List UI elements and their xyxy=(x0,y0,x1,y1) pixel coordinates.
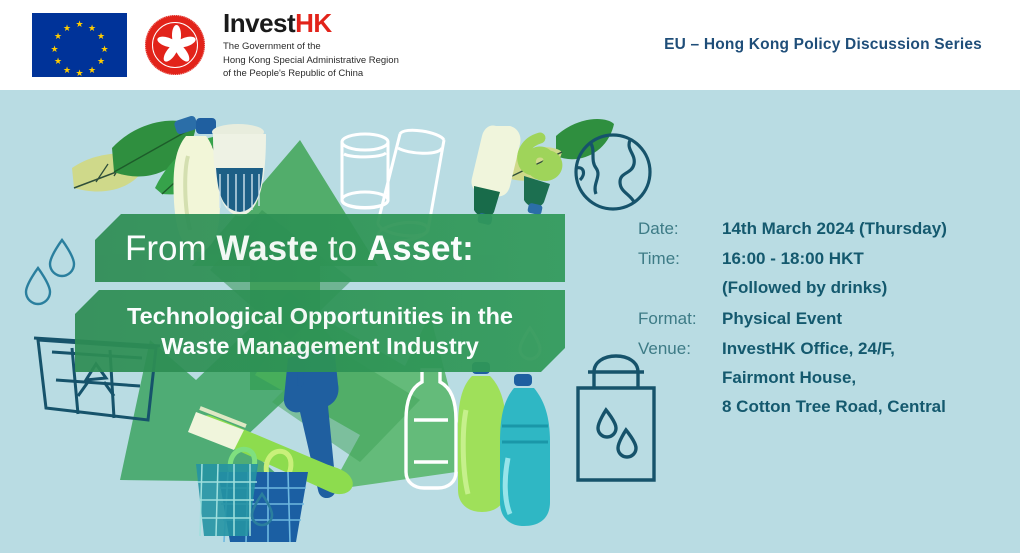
detail-row-date: Date: 14th March 2024 (Thursday) xyxy=(638,214,998,243)
detail-row-venue: Venue: InvestHK Office, 24/F, Fairmont H… xyxy=(638,334,998,422)
green-bottle-icon xyxy=(458,362,506,512)
detail-label-format: Format: xyxy=(638,304,722,333)
title-word-asset: Asset: xyxy=(367,229,474,268)
government-subtitle: The Government of the Hong Kong Special … xyxy=(223,40,399,79)
detail-value-date-line1: 14th March 2024 (Thursday) xyxy=(722,214,947,243)
gov-line-2: Hong Kong Special Administrative Region xyxy=(223,54,399,67)
globe-icon xyxy=(576,135,650,209)
investhk-word-hk: HK xyxy=(295,8,332,38)
detail-value-format-line1: Physical Event xyxy=(722,304,842,333)
detail-value-time: 16:00 - 18:00 HKT (Followed by drinks) xyxy=(722,244,887,302)
event-details: Date: 14th March 2024 (Thursday) Time: 1… xyxy=(638,214,998,422)
investhk-wordmark: InvestHK xyxy=(223,10,399,37)
detail-label-date: Date: xyxy=(638,214,722,243)
water-droplet-icon xyxy=(26,240,74,304)
detail-value-time-line1: 16:00 - 18:00 HKT xyxy=(722,244,887,273)
title-banner-primary: From Waste to Asset: xyxy=(95,214,565,282)
detail-value-venue: InvestHK Office, 24/F, Fairmont House, 8… xyxy=(722,334,946,422)
title-mid: to xyxy=(318,229,367,268)
logo-group: ★ ★ ★ ★ ★ ★ ★ ★ ★ ★ ★ ★ InvestHK xyxy=(0,10,399,80)
poster-subtitle: Technological Opportunities in the Waste… xyxy=(127,301,513,361)
investhk-word-invest: Invest xyxy=(223,8,295,38)
detail-label-venue: Venue: xyxy=(638,334,722,363)
european-union-flag-icon: ★ ★ ★ ★ ★ ★ ★ ★ ★ ★ ★ ★ xyxy=(32,13,127,77)
gov-line-3: of the People's Republic of China xyxy=(223,67,399,80)
glass-jar-icon xyxy=(342,134,388,208)
poster-body: From Waste to Asset: Technological Oppor… xyxy=(0,90,1020,553)
poster-title: From Waste to Asset: xyxy=(125,231,474,266)
bauhinia-flower xyxy=(152,22,198,68)
teal-bottle-icon xyxy=(500,374,550,526)
title-banner-secondary: Technological Opportunities in the Waste… xyxy=(75,290,565,372)
investhk-logo: InvestHK The Government of the Hong Kong… xyxy=(223,10,399,80)
detail-value-venue-line1: InvestHK Office, 24/F, xyxy=(722,334,946,363)
detail-value-venue-line3: 8 Cotton Tree Road, Central xyxy=(722,392,946,421)
detail-row-format: Format: Physical Event xyxy=(638,304,998,333)
detail-value-date: 14th March 2024 (Thursday) xyxy=(722,214,947,243)
detail-value-time-line2: (Followed by drinks) xyxy=(722,273,887,302)
subtitle-line-1: Technological Opportunities in the xyxy=(127,301,513,331)
series-title: EU – Hong Kong Policy Discussion Series xyxy=(664,36,1020,54)
title-word-waste: Waste xyxy=(216,229,318,268)
hksar-emblem-icon xyxy=(145,15,205,75)
gov-line-1: The Government of the xyxy=(223,40,399,53)
title-prefix: From xyxy=(125,229,216,268)
subtitle-line-2: Waste Management Industry xyxy=(127,331,513,361)
detail-value-format: Physical Event xyxy=(722,304,842,333)
detail-value-venue-line2: Fairmont House, xyxy=(722,363,946,392)
detail-row-time: Time: 16:00 - 18:00 HKT (Followed by dri… xyxy=(638,244,998,302)
detail-label-time: Time: xyxy=(638,244,722,273)
page-header: ★ ★ ★ ★ ★ ★ ★ ★ ★ ★ ★ ★ InvestHK xyxy=(0,0,1020,90)
